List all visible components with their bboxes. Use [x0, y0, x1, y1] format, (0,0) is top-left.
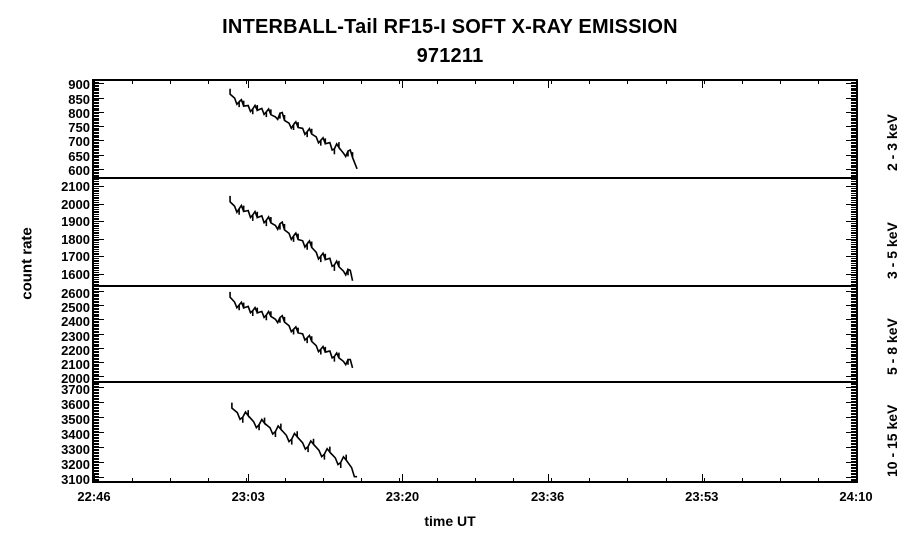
x-minor-tick — [246, 478, 247, 483]
x-minor-tick-top — [780, 79, 781, 84]
x-minor-tick-top — [704, 79, 705, 84]
y-tick-label: 700 — [68, 136, 90, 147]
x-minor-tick — [780, 478, 781, 483]
x-minor-tick — [208, 478, 209, 483]
x-minor-tick-top — [551, 79, 552, 84]
y-tick-label: 1600 — [61, 269, 90, 280]
x-minor-tick-top — [742, 79, 743, 84]
x-minor-tick — [475, 478, 476, 483]
y-tick-label: 3100 — [61, 474, 90, 485]
x-minor-tick-top — [513, 79, 514, 84]
y-tick-label: 3200 — [61, 459, 90, 470]
x-minor-tick — [704, 478, 705, 483]
y-tick-label: 800 — [68, 108, 90, 119]
y-tick-label: 2100 — [61, 181, 90, 192]
x-minor-tick — [818, 478, 819, 483]
x-tick-label: 23:03 — [232, 489, 265, 504]
y-tick-label: 650 — [68, 151, 90, 162]
y-tick-label: 600 — [68, 165, 90, 176]
chart-title-line-1: INTERBALL-Tail RF15-I SOFT X-RAY EMISSIO… — [0, 16, 900, 39]
panel-separator — [94, 285, 856, 287]
x-minor-tick-top — [132, 79, 133, 84]
y-tick-label: 2100 — [61, 359, 90, 370]
x-minor-tick — [437, 478, 438, 483]
y-tick-label: 3300 — [61, 444, 90, 455]
x-minor-tick — [742, 478, 743, 483]
x-minor-tick — [627, 478, 628, 483]
x-minor-tick-top — [818, 79, 819, 84]
y-tick-label: 1900 — [61, 216, 90, 227]
x-tick-label: 24:10 — [839, 489, 872, 504]
x-minor-tick-top — [361, 79, 362, 84]
y-tick-label: 2300 — [61, 331, 90, 342]
y-tick-label: 3700 — [61, 384, 90, 395]
panel-2-3kev — [94, 79, 856, 177]
x-minor-tick-top — [666, 79, 667, 84]
data-trace-10-15kev — [94, 381, 856, 482]
x-minor-tick-top — [589, 79, 590, 84]
energy-band-label: 5 - 8 keV — [884, 318, 900, 375]
y-tick-label: 1700 — [61, 251, 90, 262]
x-minor-tick — [323, 478, 324, 483]
x-minor-tick-top — [437, 79, 438, 84]
x-minor-tick-top — [170, 79, 171, 84]
y-tick-label: 3600 — [61, 399, 90, 410]
x-minor-tick-top — [285, 79, 286, 84]
x-minor-tick-top — [94, 79, 95, 84]
panel-separator — [94, 381, 856, 383]
y-tick-label: 3500 — [61, 414, 90, 425]
x-major-tick-top — [548, 79, 549, 88]
x-axis-label: time UT — [0, 513, 900, 529]
y-tick-label: 750 — [68, 122, 90, 133]
x-minor-tick — [589, 478, 590, 483]
y-tick-label: 2400 — [61, 316, 90, 327]
panel-separator — [94, 177, 856, 179]
energy-band-label: 2 - 3 keV — [884, 114, 900, 171]
panel-3-5kev — [94, 177, 856, 285]
x-minor-tick — [94, 478, 95, 483]
x-minor-tick-top — [246, 79, 247, 84]
chart-title-line-2: 971211 — [0, 45, 900, 68]
x-tick-label: 23:53 — [685, 489, 718, 504]
x-major-tick-top — [248, 79, 249, 88]
x-major-tick — [402, 474, 403, 483]
energy-band-label: 10 - 15 keV — [884, 405, 900, 477]
y-tick-label: 1800 — [61, 234, 90, 245]
y-tick-label: 2000 — [61, 199, 90, 210]
y-tick-label: 2500 — [61, 302, 90, 313]
y-tick-label: 3400 — [61, 429, 90, 440]
x-major-tick-top — [402, 79, 403, 88]
panel-10-15kev — [94, 381, 856, 483]
y-tick-label: 2200 — [61, 345, 90, 356]
data-trace-3-5kev — [94, 179, 856, 285]
x-minor-tick-top — [475, 79, 476, 84]
x-major-tick — [248, 474, 249, 483]
x-minor-tick — [551, 478, 552, 483]
x-major-tick — [548, 474, 549, 483]
x-minor-tick — [399, 478, 400, 483]
x-minor-tick — [170, 478, 171, 483]
x-minor-tick-top — [399, 79, 400, 84]
y-tick-label: 900 — [68, 79, 90, 90]
x-minor-tick — [132, 478, 133, 483]
x-tick-label: 23:36 — [531, 489, 564, 504]
y-tick-label: 2600 — [61, 288, 90, 299]
energy-band-label: 3 - 5 keV — [884, 222, 900, 279]
y-tick-label-group: 9008508007507006506002100200019001800170… — [0, 79, 90, 483]
x-tick-label: 23:20 — [386, 489, 419, 504]
y-tick-label: 850 — [68, 94, 90, 105]
plot-frame — [92, 79, 858, 483]
x-minor-tick-top — [627, 79, 628, 84]
x-minor-tick-top — [323, 79, 324, 84]
x-minor-tick — [361, 478, 362, 483]
x-tick-label: 22:46 — [77, 489, 110, 504]
x-minor-tick — [513, 478, 514, 483]
x-minor-tick-top — [208, 79, 209, 84]
data-trace-5-8kev — [94, 285, 856, 380]
x-minor-tick — [666, 478, 667, 483]
data-trace-2-3kev — [94, 79, 856, 176]
panel-5-8kev — [94, 285, 856, 381]
x-minor-tick — [285, 478, 286, 483]
